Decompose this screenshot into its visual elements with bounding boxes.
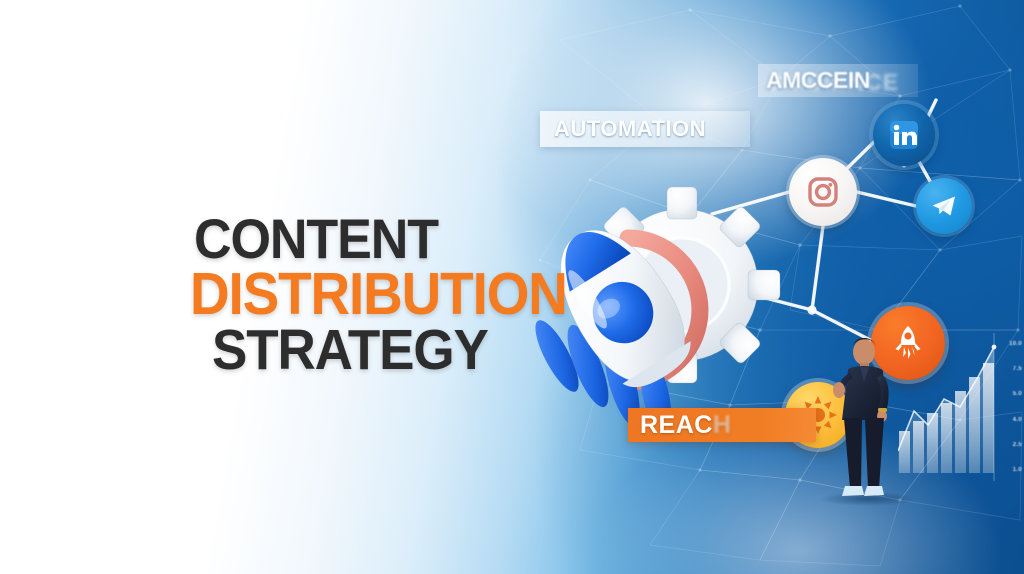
linkedin-icon <box>887 118 921 152</box>
chart-tick-label: 10.0 <box>992 341 1022 347</box>
chart-tick-label: 7.5 <box>992 366 1022 372</box>
node-linkedin[interactable] <box>873 104 935 166</box>
banner-reach: REACH <box>628 408 816 442</box>
person-right-leg <box>865 418 884 488</box>
banner-reach-label: REAC <box>640 411 713 440</box>
title-line-strategy: STRATEGY <box>212 324 508 377</box>
chart-tick-label: 5.0 <box>992 391 1022 397</box>
title-line-distribution: DISTRIBUTION <box>190 267 506 322</box>
node-telegram[interactable] <box>916 178 972 234</box>
banner-automation: AUTOMATION <box>540 111 750 147</box>
chart-tick-label: 2.5 <box>992 442 1022 448</box>
poster-canvas: 10.0 7.5 5.0 4.0 2.5 1.0 <box>0 0 1024 574</box>
banner-audience: AUDIENCE AMCCEIN <box>758 64 918 97</box>
chart-tick-label: 1.0 <box>992 467 1022 473</box>
person-head <box>853 339 875 365</box>
chart-tick-label: 4.0 <box>992 417 1022 423</box>
node-instagram[interactable] <box>789 158 857 226</box>
person-left-shoe <box>842 486 864 496</box>
chart-tick-labels: 10.0 7.5 5.0 4.0 2.5 1.0 <box>992 341 1022 473</box>
instagram-icon <box>806 175 840 209</box>
telegram-icon <box>929 191 959 221</box>
page-title: CONTENT DISTRIBUTION STRATEGY <box>190 213 530 377</box>
person-waving-hand <box>833 382 845 398</box>
banner-audience-label: AMCCEIN <box>766 67 870 94</box>
banner-reach-label-fade: H <box>713 411 732 440</box>
businessman-figure <box>812 330 920 510</box>
person-left-leg <box>844 418 862 488</box>
banner-automation-label: AUTOMATION <box>554 116 706 142</box>
person-wristwatch <box>878 408 887 412</box>
person-right-shoe <box>864 486 884 496</box>
title-line-content: CONTENT <box>194 213 506 265</box>
